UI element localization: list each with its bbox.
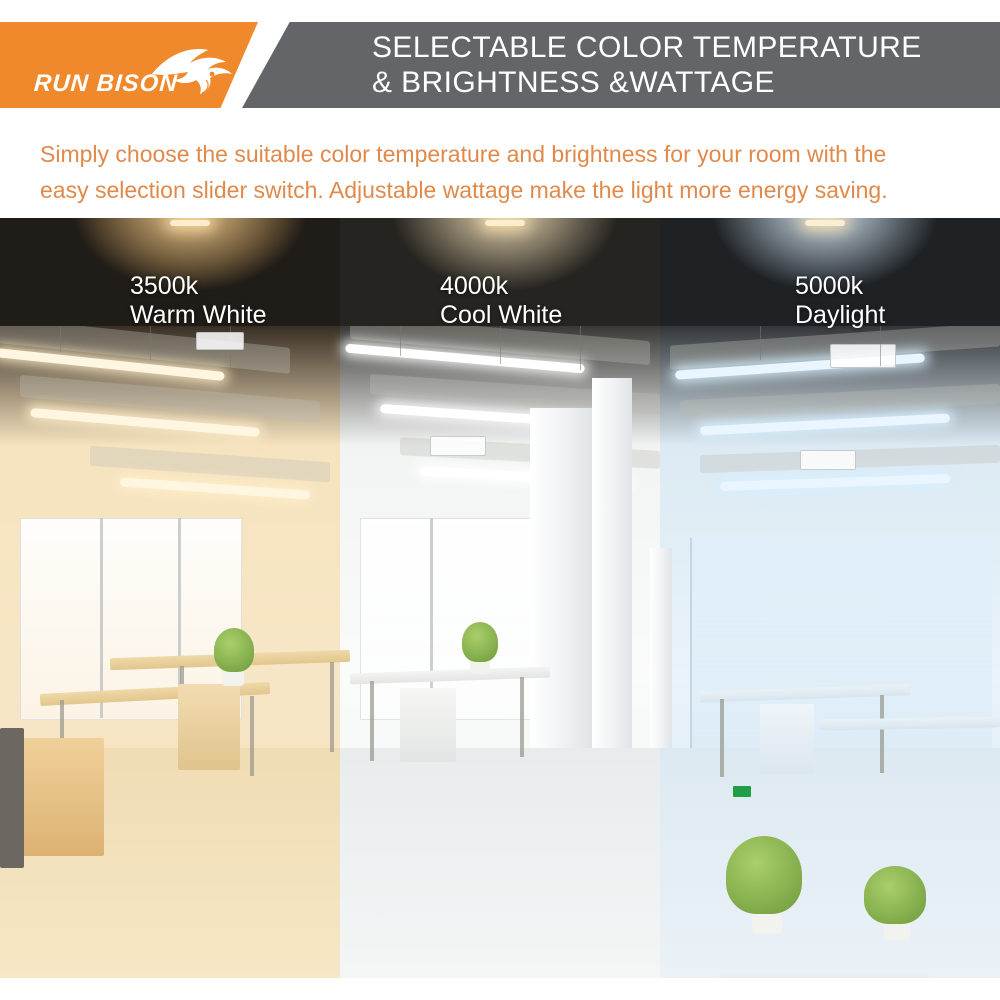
cabinet	[400, 688, 456, 762]
ceiling-fixture	[170, 220, 210, 226]
plant	[864, 866, 926, 924]
bison-head-icon	[150, 44, 236, 100]
cabinet	[0, 728, 24, 868]
plant	[462, 622, 498, 662]
subtitle-text: Simply choose the suitable color tempera…	[40, 136, 970, 208]
zone-kelvin: 3500k	[130, 272, 267, 300]
header: RUN BISON SELECTABLE COLOR TEMPERATURE &…	[0, 0, 1000, 125]
ceiling-fixture	[805, 220, 845, 226]
office-lighting-photo: 3500k Warm White 4000k Cool White 5000k …	[0, 218, 1000, 978]
ceiling-fixture	[485, 220, 525, 226]
floor-cool	[340, 748, 660, 978]
cabinet	[760, 704, 814, 774]
zone-label-cool-white: 4000k Cool White	[440, 272, 562, 330]
floor-daylight	[660, 748, 1000, 978]
exit-sign	[733, 786, 751, 797]
cabinet	[18, 738, 104, 856]
zone-kelvin: 5000k	[795, 272, 885, 300]
cabinet	[178, 684, 240, 770]
brand-logo: RUN BISON	[30, 46, 230, 104]
plant	[214, 628, 254, 672]
zone-kelvin: 4000k	[440, 272, 562, 300]
plant	[726, 836, 802, 914]
zone-label-daylight: 5000k Daylight	[795, 272, 885, 330]
product-feature-banner: RUN BISON SELECTABLE COLOR TEMPERATURE &…	[0, 0, 1000, 1000]
zone-label-warm-white: 3500k Warm White	[130, 272, 267, 330]
page-title: SELECTABLE COLOR TEMPERATURE & BRIGHTNES…	[372, 30, 992, 100]
